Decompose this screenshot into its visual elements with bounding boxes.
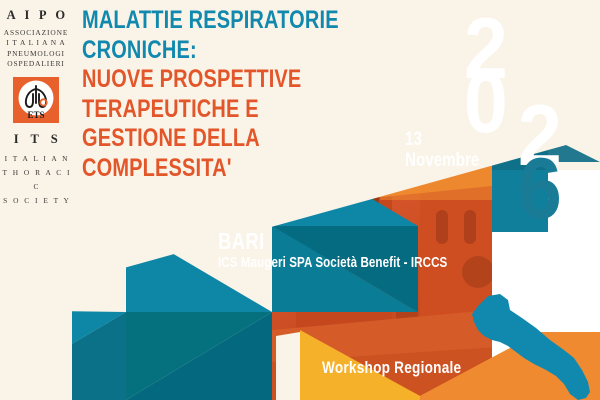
logo-org-line-2: I T A L I A N A: [0, 38, 72, 49]
title-line-1: MALATTIE RESPIRATORIE: [82, 6, 339, 36]
event-date-month: Novembre: [405, 150, 479, 171]
title-line-6: COMPLESSITA': [82, 154, 339, 184]
logo-ets-label: ETS: [27, 110, 44, 120]
logo-org-line-3: PNEUMOLOGI: [0, 49, 72, 60]
event-type-label: Workshop Regionale: [322, 358, 461, 377]
poster-title: MALATTIE RESPIRATORIE CRONICHE: NUOVE PR…: [82, 6, 403, 183]
lungs-logo-icon: ETS: [13, 77, 59, 123]
event-poster: A I P O ASSOCIAZIONE I T A L I A N A PNE…: [0, 0, 600, 400]
event-venue: BARI ICS Maugeri SPA Società Benefit - I…: [218, 228, 505, 272]
year-digit-4: 6: [518, 146, 562, 232]
title-line-5: GESTIONE DELLA: [82, 124, 339, 154]
event-type: Workshop Regionale: [322, 358, 496, 377]
year-digit-2: 0: [464, 60, 508, 146]
aipo-its-logo: A I P O ASSOCIAZIONE I T A L I A N A PNE…: [0, 0, 72, 400]
logo-acronym-its: I T S: [4, 132, 72, 147]
logo-org-line-4: OSPEDALIERI: [0, 59, 72, 70]
lungs-icon: ETS: [13, 77, 59, 123]
title-line-3: NUOVE PROSPETTIVE: [82, 65, 339, 95]
title-line-4: TERAPEUTICHE E: [82, 95, 339, 125]
venue-institution: ICS Maugeri SPA Società Benefit - IRCCS: [218, 255, 447, 272]
logo-society-line-3: S O C I E T Y: [2, 194, 72, 208]
title-line-2: CRONICHE:: [82, 36, 339, 66]
logo-society-line-1: I T A L I A N: [2, 152, 72, 166]
logo-society-line-2: T H O R A C I C: [2, 166, 72, 194]
venue-city: BARI: [218, 228, 447, 254]
logo-acronym-aipo: A I P O: [3, 9, 72, 22]
logo-org-line-1: ASSOCIAZIONE: [0, 28, 72, 39]
